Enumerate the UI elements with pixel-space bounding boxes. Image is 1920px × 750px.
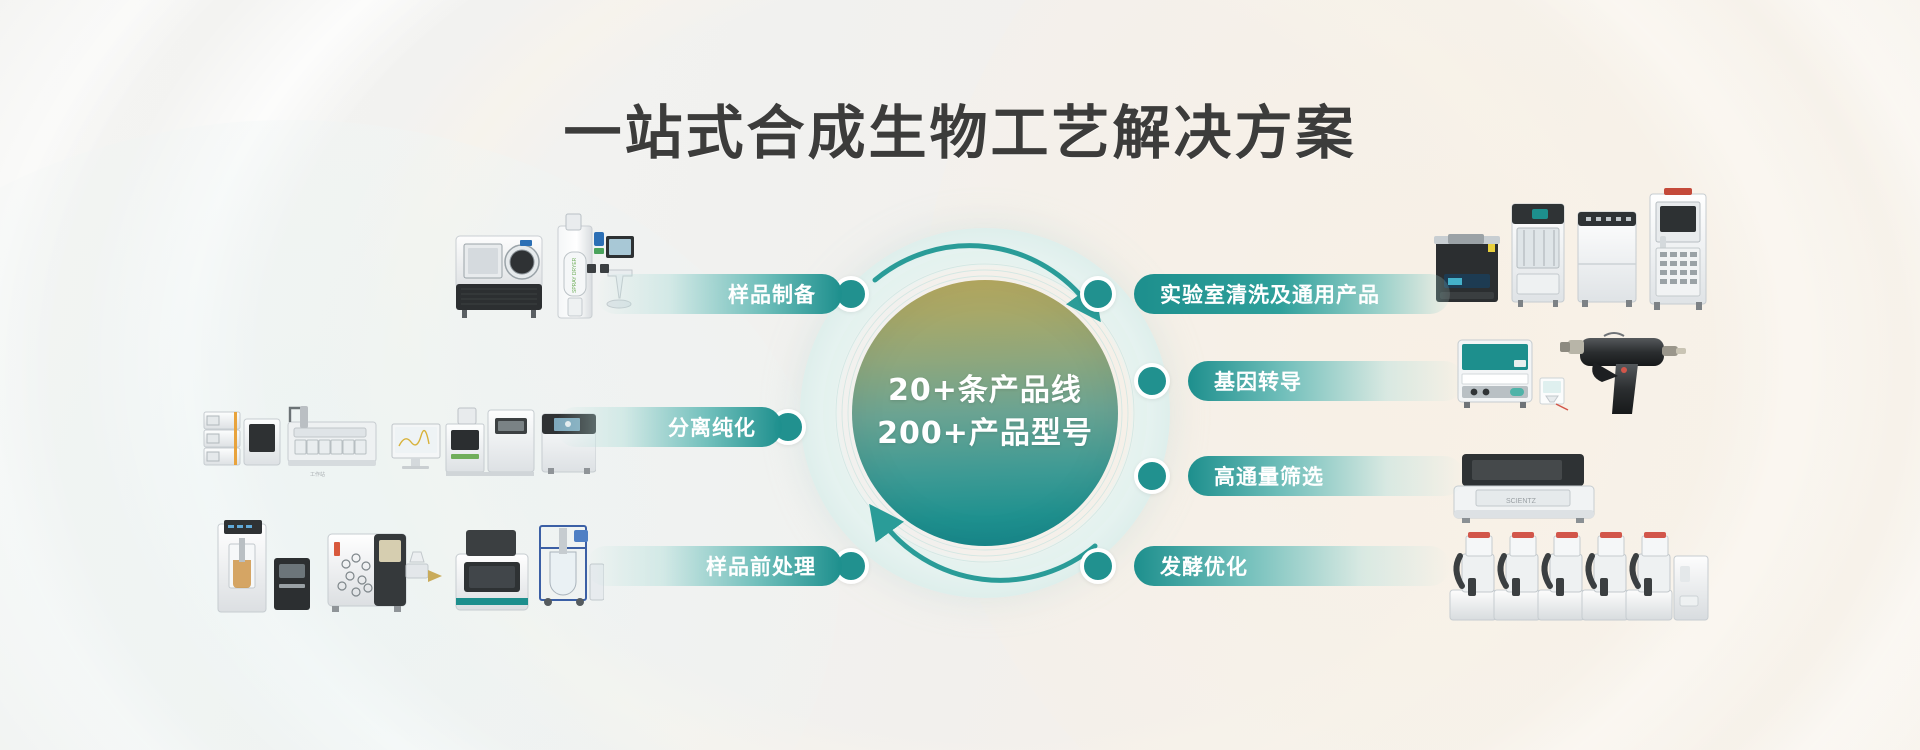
pill-sample-preparation[interactable]: 样品制备 <box>596 274 842 314</box>
hub-core: 20+条产品线 200+产品型号 <box>852 280 1118 546</box>
node-lab-cleaning[interactable] <box>1080 276 1116 312</box>
infographic-stage: 一站式合成生物工艺解决方案 <box>0 0 1920 750</box>
hub-stat-product-lines: 20+条产品线 <box>888 370 1082 413</box>
pill-gene-transduction[interactable]: 基因转导 <box>1188 361 1464 401</box>
pill-label: 发酵优化 <box>1160 551 1248 581</box>
svg-text:SCIENTZ: SCIENTZ <box>1506 498 1537 505</box>
pill-label: 分离纯化 <box>668 412 756 442</box>
pill-fermentation-optimization[interactable]: 发酵优化 <box>1134 546 1450 586</box>
pill-label: 基因转导 <box>1214 366 1302 396</box>
equipment-separation-purification: 工作站 <box>196 386 596 496</box>
pill-separation-purification[interactable]: 分离纯化 <box>556 407 782 447</box>
pill-sample-pretreatment[interactable]: 样品前处理 <box>586 546 842 586</box>
equipment-sample-pretreatment <box>204 512 604 622</box>
equipment-lab-cleaning <box>1432 182 1722 324</box>
pill-label: 实验室清洗及通用产品 <box>1160 279 1380 309</box>
node-fermentation-optimization[interactable] <box>1080 548 1116 584</box>
equipment-gene-transduction <box>1444 326 1714 436</box>
pill-lab-cleaning[interactable]: 实验室清洗及通用产品 <box>1134 274 1450 314</box>
pill-label: 样品制备 <box>728 279 816 309</box>
pill-label: 样品前处理 <box>706 551 816 581</box>
equipment-fermentation-optimization <box>1424 522 1724 632</box>
page-title: 一站式合成生物工艺解决方案 <box>0 86 1920 170</box>
pill-high-throughput-screening[interactable]: 高通量筛选 <box>1188 456 1464 496</box>
node-high-throughput-screening[interactable] <box>1134 458 1170 494</box>
node-gene-transduction[interactable] <box>1134 363 1170 399</box>
svg-text:工作站: 工作站 <box>310 471 325 478</box>
equipment-high-throughput-screening: SCIENTZ <box>1448 448 1628 528</box>
hub-stat-product-models: 200+产品型号 <box>877 413 1093 456</box>
pill-label: 高通量筛选 <box>1214 461 1324 491</box>
svg-text:SPRAY DRYER: SPRAY DRYER <box>572 257 578 293</box>
